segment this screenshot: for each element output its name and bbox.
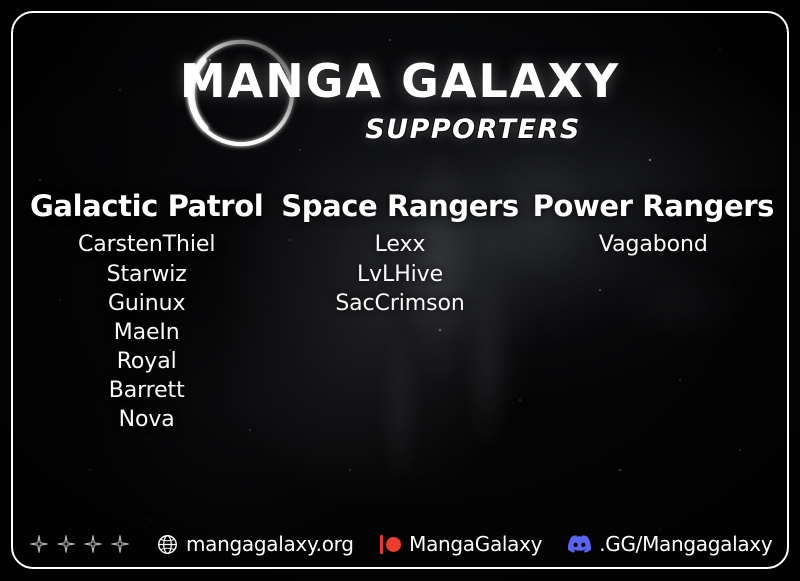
sparkle-icon — [111, 535, 129, 553]
supporter-name: SacCrimson — [273, 290, 526, 318]
sparkle-icon — [30, 535, 48, 553]
pinterest-link[interactable]: MangaGalaxy — [380, 532, 543, 556]
supporter-column-galactic-patrol: Galactic Patrol CarstenThiel Starwiz Gui… — [20, 190, 273, 434]
supporter-name: Starwiz — [20, 261, 273, 289]
supporter-name-list: Vagabond — [527, 231, 780, 259]
column-title: Power Rangers — [527, 190, 780, 223]
discord-label: .GG/Mangagalaxy — [599, 532, 772, 556]
column-title: Galactic Patrol — [20, 190, 273, 223]
supporter-name-list: CarstenThiel Starwiz Guinux MaeIn Royal … — [20, 231, 273, 434]
brand-title: MANGA GALAXY — [180, 58, 620, 104]
brand-subtitle: SUPPORTERS — [365, 114, 581, 145]
supporter-name: Barrett — [20, 377, 273, 405]
sparkle-icon — [84, 535, 102, 553]
brand-subtitle-wrap: SUPPORTERS — [0, 114, 800, 145]
brand-title-wrap: MANGA GALAXY — [0, 58, 800, 104]
supporter-column-power-rangers: Power Rangers Vagabond — [527, 190, 780, 260]
website-label: mangagalaxy.org — [186, 532, 354, 556]
discord-link[interactable]: .GG/Mangagalaxy — [568, 532, 772, 556]
supporter-name-list: Lexx LvLHive SacCrimson — [273, 231, 526, 317]
sparkle-group — [30, 535, 129, 553]
supporter-columns: Galactic Patrol CarstenThiel Starwiz Gui… — [20, 190, 780, 434]
sparkle-icon — [57, 535, 75, 553]
website-link[interactable]: mangagalaxy.org — [157, 532, 354, 556]
column-title: Space Rangers — [273, 190, 526, 223]
footer-links: mangagalaxy.org MangaGalaxy .GG/Mangagal… — [157, 532, 772, 556]
supporter-name: Vagabond — [527, 231, 780, 259]
discord-icon — [568, 535, 591, 553]
supporter-column-space-rangers: Space Rangers Lexx LvLHive SacCrimson — [273, 190, 526, 318]
supporter-name: LvLHive — [273, 261, 526, 289]
supporters-poster: MANGA GALAXY SUPPORTERS Galactic Patrol … — [0, 0, 800, 581]
pinterest-icon — [380, 534, 402, 554]
supporter-name: Lexx — [273, 231, 526, 259]
logo-area: MANGA GALAXY SUPPORTERS — [0, 18, 800, 148]
supporter-name: Nova — [20, 406, 273, 434]
footer-bar: mangagalaxy.org MangaGalaxy .GG/Mangagal… — [16, 525, 784, 563]
pinterest-label: MangaGalaxy — [409, 532, 542, 556]
supporter-name: Royal — [20, 348, 273, 376]
supporter-name: Guinux — [20, 290, 273, 318]
globe-icon — [157, 534, 178, 555]
supporter-name: CarstenThiel — [20, 231, 273, 259]
supporter-name: MaeIn — [20, 319, 273, 347]
